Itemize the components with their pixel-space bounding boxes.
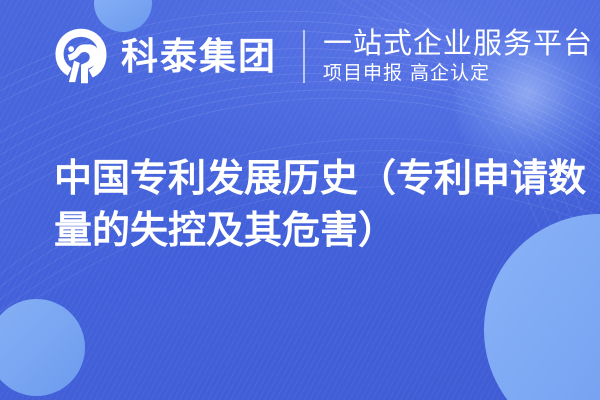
page-title: 中国专利发展历史（专利申请数 量的失控及其危害）: [54, 152, 564, 256]
ketai-group-circular-logo: [52, 27, 110, 85]
page-title-line-2: 量的失控及其危害）: [54, 204, 564, 256]
tagline-sub: 项目申报 高企认定: [323, 63, 593, 84]
banner-header: 科泰集团 一站式企业服务平台 项目申报 高企认定: [0, 0, 600, 112]
tagline-block: 一站式企业服务平台 项目申报 高企认定: [323, 28, 593, 84]
promo-banner: 科泰集团 一站式企业服务平台 项目申报 高企认定 中国专利发展历史（专利申请数 …: [0, 0, 600, 400]
vertical-divider: [303, 30, 305, 83]
brand-name: 科泰集团: [121, 38, 277, 75]
page-title-line-1: 中国专利发展历史（专利申请数: [54, 152, 564, 204]
tagline-main: 一站式企业服务平台: [323, 28, 593, 59]
